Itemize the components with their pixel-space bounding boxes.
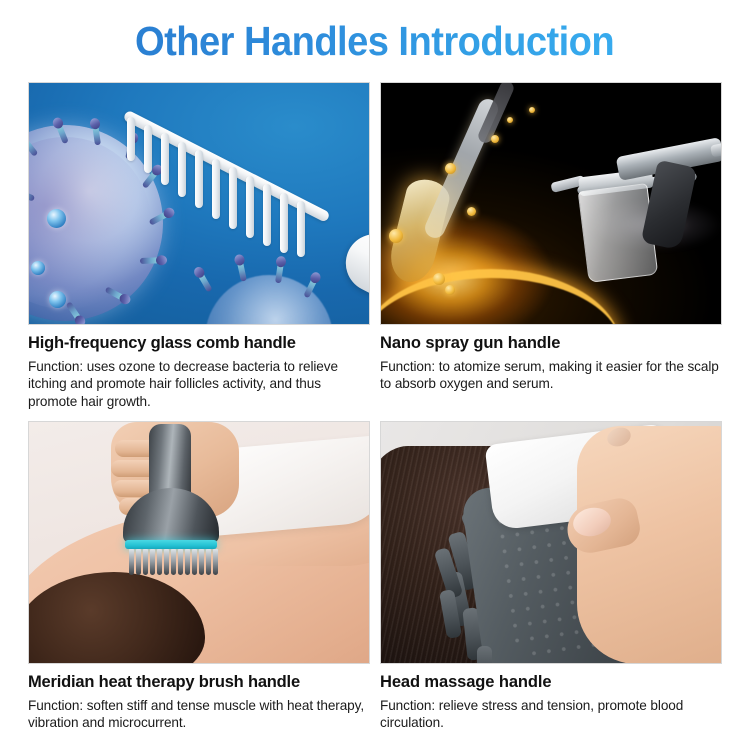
card-caption: Meridian heat therapy brush handle Funct… bbox=[28, 664, 370, 732]
handle-card-meridian-heat-therapy-brush[interactable]: Meridian heat therapy brush handle Funct… bbox=[28, 421, 370, 732]
handle-card-high-frequency-glass-comb[interactable]: High-frequency glass comb handle Functio… bbox=[28, 82, 370, 410]
comb-tooth bbox=[280, 193, 288, 253]
product-image-nano-spray-gun bbox=[380, 82, 722, 325]
serum-particle-icon bbox=[389, 229, 403, 243]
serum-particle-icon bbox=[491, 135, 499, 143]
card-description: Function: relieve stress and tension, pr… bbox=[380, 697, 722, 732]
card-title: High-frequency glass comb handle bbox=[28, 334, 370, 354]
card-caption: Nano spray gun handle Function: to atomi… bbox=[380, 325, 722, 393]
virus-particle-icon bbox=[49, 291, 66, 308]
infographic-page: Other Handles Introduction bbox=[0, 0, 750, 750]
comb-tooth bbox=[263, 184, 271, 246]
brush-bristle bbox=[477, 646, 492, 664]
virus-particle-icon bbox=[47, 209, 66, 228]
card-caption: High-frequency glass comb handle Functio… bbox=[28, 325, 370, 410]
serum-particle-icon bbox=[467, 207, 476, 216]
device-pin bbox=[157, 549, 162, 575]
serum-particle-icon bbox=[507, 117, 513, 123]
comb-handle-body bbox=[336, 224, 370, 325]
product-image-head-massage bbox=[380, 421, 722, 664]
handle-card-head-massage[interactable]: Head massage handle Function: relieve st… bbox=[380, 421, 722, 732]
device-pin bbox=[206, 549, 211, 575]
comb-tooth bbox=[178, 142, 186, 197]
card-description: Function: soften stiff and tense muscle … bbox=[28, 697, 370, 732]
serum-particle-icon bbox=[445, 163, 456, 174]
comb-tooth bbox=[127, 117, 135, 161]
device-pin bbox=[199, 549, 204, 575]
page-title: Other Handles Introduction bbox=[0, 14, 750, 68]
product-image-glass-comb bbox=[28, 82, 370, 325]
comb-tooth bbox=[161, 133, 169, 185]
comb-tooth bbox=[297, 201, 305, 257]
comb-tooth bbox=[144, 125, 152, 173]
device-pin bbox=[150, 549, 155, 575]
page-title-text: Other Handles Introduction bbox=[135, 18, 614, 65]
device-pin bbox=[171, 549, 176, 575]
virus-particle-icon bbox=[31, 261, 45, 275]
device-pin bbox=[178, 549, 183, 575]
device-pin bbox=[164, 549, 169, 575]
card-title: Head massage handle bbox=[380, 673, 722, 693]
card-description: Function: to atomize serum, making it ea… bbox=[380, 358, 722, 393]
serum-particle-icon bbox=[529, 107, 535, 113]
device-pin bbox=[185, 549, 190, 575]
device-pin bbox=[143, 549, 148, 575]
glass-comb-icon bbox=[125, 103, 370, 283]
device-pin bbox=[136, 549, 141, 575]
card-caption: Head massage handle Function: relieve st… bbox=[380, 664, 722, 732]
serum-particle-icon bbox=[433, 273, 445, 285]
card-title: Nano spray gun handle bbox=[380, 334, 722, 354]
card-title: Meridian heat therapy brush handle bbox=[28, 673, 370, 693]
device-pin bbox=[192, 549, 197, 575]
device-led-ring bbox=[125, 540, 217, 549]
card-description: Function: uses ozone to decrease bacteri… bbox=[28, 358, 370, 410]
serum-particle-icon bbox=[445, 285, 455, 295]
comb-tooth bbox=[229, 167, 237, 229]
handles-grid: High-frequency glass comb handle Functio… bbox=[28, 82, 722, 742]
device-pin bbox=[213, 549, 218, 575]
comb-tooth bbox=[246, 176, 254, 238]
handle-card-nano-spray-gun[interactable]: Nano spray gun handle Function: to atomi… bbox=[380, 82, 722, 393]
comb-tooth bbox=[195, 150, 203, 208]
comb-tooth bbox=[212, 159, 220, 219]
product-image-meridian-brush bbox=[28, 421, 370, 664]
device-pin bbox=[129, 549, 134, 575]
